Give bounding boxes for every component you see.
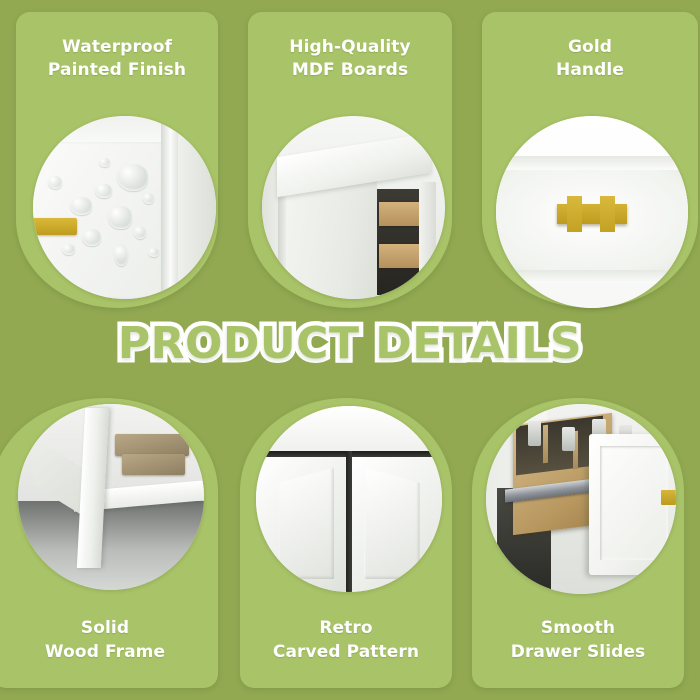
feature-photo-waterproof [33, 116, 216, 299]
feature-photo-frame [18, 404, 204, 590]
feature-caption-line2: Painted Finish [16, 59, 218, 82]
solid-wood-frame-image [18, 404, 204, 590]
feature-caption-line2: Handle [482, 59, 698, 82]
feature-card-waterproof[interactable]: Waterproof Painted Finish [16, 12, 218, 308]
feature-caption-line2: Wood Frame [0, 641, 218, 664]
feature-caption-line1: Waterproof [62, 37, 172, 57]
gold-handle-icon [557, 204, 626, 223]
retro-carved-pattern-image [256, 406, 442, 592]
feature-caption-line2: MDF Boards [248, 59, 452, 82]
feature-caption-frame: Solid Wood Frame [0, 617, 218, 664]
mdf-cabinet-corner-image [262, 116, 445, 299]
feature-caption-mdf: High-Quality MDF Boards [248, 36, 452, 83]
page-title: PRODUCT DETAILS [0, 318, 700, 369]
feature-photo-slides [486, 404, 676, 594]
waterproof-painted-surface-image [33, 116, 216, 299]
feature-caption-waterproof: Waterproof Painted Finish [16, 36, 218, 83]
gold-handle-accent [661, 490, 676, 505]
gold-handle-image [496, 116, 688, 308]
feature-card-frame[interactable]: Solid Wood Frame [0, 398, 218, 688]
product-details-infographic: Waterproof Painted Finish [0, 0, 700, 700]
feature-caption-line1: Gold [568, 37, 612, 57]
feature-card-mdf[interactable]: High-Quality MDF Boards [248, 12, 452, 308]
feature-caption-handle: Gold Handle [482, 36, 698, 83]
feature-caption-line2: Drawer Slides [472, 641, 684, 664]
feature-caption-retro: Retro Carved Pattern [240, 617, 452, 664]
feature-caption-line1: Smooth [541, 618, 615, 638]
feature-caption-slides: Smooth Drawer Slides [472, 617, 684, 664]
feature-card-handle[interactable]: Gold Handle [482, 12, 698, 308]
feature-caption-line1: High-Quality [289, 37, 410, 57]
gold-handle-accent [33, 218, 77, 234]
feature-caption-line1: Solid [81, 618, 129, 638]
feature-photo-retro [256, 406, 442, 592]
feature-photo-mdf [262, 116, 445, 299]
feature-caption-line2: Carved Pattern [240, 641, 452, 664]
feature-caption-line1: Retro [319, 618, 372, 638]
feature-card-retro[interactable]: Retro Carved Pattern [240, 398, 452, 688]
feature-card-slides[interactable]: Smooth Drawer Slides [472, 398, 684, 688]
feature-photo-handle [496, 116, 688, 308]
drawer-slides-image [486, 404, 676, 594]
